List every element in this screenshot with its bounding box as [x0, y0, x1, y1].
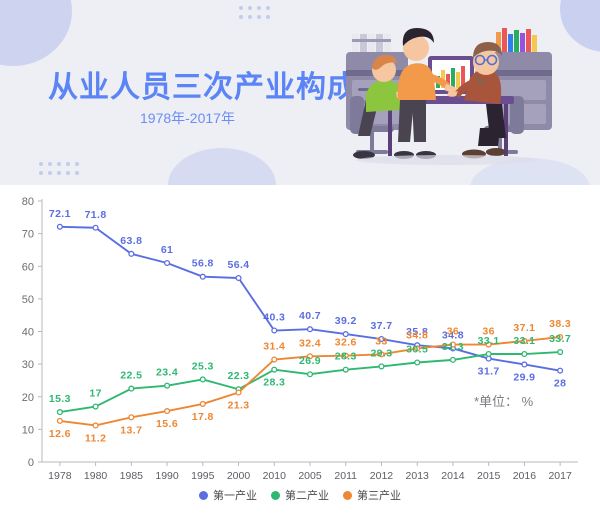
- legend-color-dot: [199, 491, 208, 500]
- x-axis-tick-label: 2014: [441, 470, 465, 482]
- legend-color-dot: [343, 491, 352, 500]
- data-label: 26.9: [299, 355, 321, 367]
- data-point-marker[interactable]: [272, 367, 277, 372]
- data-label: 72.1: [49, 208, 71, 220]
- data-label: 28: [554, 378, 566, 390]
- data-label: 36: [447, 326, 459, 338]
- data-label: 33: [375, 335, 387, 347]
- data-point-marker[interactable]: [308, 372, 313, 377]
- data-label: 28.3: [335, 351, 357, 363]
- data-label: 56.8: [192, 258, 214, 270]
- legend-item[interactable]: 第三产业: [343, 487, 401, 503]
- unit-annotation: *单位： %: [474, 391, 533, 410]
- data-label: 29.3: [370, 347, 392, 359]
- data-point-marker[interactable]: [451, 357, 456, 362]
- x-axis-tick-label: 2017: [548, 470, 572, 482]
- header-banner: 从业人员三次产业构成 1978年-2017年: [0, 0, 600, 185]
- data-point-marker[interactable]: [522, 352, 527, 357]
- data-point-marker[interactable]: [165, 383, 170, 388]
- data-point-marker[interactable]: [165, 261, 170, 266]
- data-point-marker[interactable]: [129, 251, 134, 256]
- data-point-marker[interactable]: [415, 360, 420, 365]
- data-point-marker[interactable]: [57, 224, 62, 229]
- data-label: 11.2: [85, 432, 106, 444]
- x-axis-tick-label: 2011: [334, 470, 357, 482]
- data-label: 36: [482, 326, 494, 338]
- data-label: 12.6: [49, 428, 71, 440]
- data-label: 32.6: [335, 337, 357, 349]
- x-axis-tick-label: 1980: [84, 470, 108, 482]
- data-point-marker[interactable]: [522, 362, 527, 367]
- data-label: 38.3: [549, 318, 571, 330]
- data-point-marker[interactable]: [272, 328, 277, 333]
- x-axis-tick-label: 1995: [191, 470, 215, 482]
- data-label: 40.3: [263, 312, 285, 324]
- data-label: 31.4: [263, 341, 285, 353]
- y-axis-tick-label: 50: [22, 294, 34, 306]
- chart-container: 搜狐新闻 01020304050607080 19781980198519901…: [0, 185, 600, 522]
- y-axis-tick-label: 40: [22, 327, 34, 339]
- data-label: 34.8: [406, 329, 428, 341]
- data-label: 15.3: [49, 393, 71, 405]
- decorative-blob-top-left: [0, 0, 72, 66]
- data-label: 15.6: [156, 418, 178, 430]
- data-label: 40.7: [299, 310, 321, 322]
- data-label: 17: [89, 388, 101, 400]
- legend-label: 第二产业: [285, 487, 329, 503]
- decorative-dot-grid-top: [239, 6, 270, 19]
- data-point-marker[interactable]: [93, 225, 98, 230]
- data-point-marker[interactable]: [57, 410, 62, 415]
- infographic-page: 从业人员三次产业构成 1978年-2017年: [0, 0, 600, 522]
- decorative-blob-bottom-center: [168, 148, 276, 185]
- legend-item[interactable]: 第二产业: [271, 487, 329, 503]
- data-point-marker[interactable]: [558, 368, 563, 373]
- data-label: 71.8: [85, 209, 107, 221]
- data-label: 37.7: [370, 320, 392, 332]
- data-label: 23.4: [156, 367, 178, 379]
- chart-legend: 第一产业第二产业第三产业: [0, 487, 600, 503]
- data-point-marker[interactable]: [558, 350, 563, 355]
- data-point-marker[interactable]: [308, 327, 313, 332]
- data-label: 56.4: [228, 259, 250, 271]
- data-point-marker[interactable]: [165, 409, 170, 414]
- legend-item[interactable]: 第一产业: [199, 487, 257, 503]
- data-label: 28.3: [263, 377, 285, 389]
- data-point-marker[interactable]: [486, 352, 491, 357]
- y-axis-tick-label: 20: [22, 392, 34, 404]
- y-axis-tick-label: 70: [22, 229, 34, 241]
- x-axis: 1978198019851990199520002010200520112012…: [42, 462, 578, 482]
- line-chart-plot: 01020304050607080 1978198019851990199520…: [0, 185, 600, 522]
- y-axis-tick-label: 0: [28, 457, 34, 469]
- x-axis-tick-label: 2000: [227, 470, 251, 482]
- y-axis-tick-label: 10: [22, 424, 34, 436]
- data-point-marker[interactable]: [200, 274, 205, 279]
- data-label: 13.7: [120, 424, 142, 436]
- data-label: 29.9: [513, 371, 535, 383]
- data-label: 39.2: [335, 315, 357, 327]
- office-team-illustration: [322, 8, 572, 173]
- data-point-marker[interactable]: [93, 423, 98, 428]
- data-point-marker[interactable]: [129, 386, 134, 391]
- page-title: 从业人员三次产业构成: [48, 62, 358, 106]
- data-point-marker[interactable]: [57, 418, 62, 423]
- x-axis-tick-label: 2012: [370, 470, 394, 482]
- x-axis-tick-label: 1978: [48, 470, 72, 482]
- data-point-marker[interactable]: [272, 357, 277, 362]
- data-point-marker[interactable]: [129, 415, 134, 420]
- data-label: 22.3: [228, 370, 250, 382]
- legend-label: 第一产业: [213, 487, 257, 503]
- data-label: 32.4: [299, 337, 321, 349]
- decorative-dot-grid-bottom: [39, 162, 79, 175]
- data-label: 33.1: [513, 335, 535, 347]
- data-label: 33.7: [549, 333, 571, 345]
- x-axis-tick-label: 2016: [513, 470, 537, 482]
- data-point-marker[interactable]: [343, 367, 348, 372]
- data-point-marker[interactable]: [236, 276, 241, 281]
- x-axis-tick-label: 1990: [155, 470, 179, 482]
- data-point-marker[interactable]: [379, 364, 384, 369]
- legend-label: 第三产业: [357, 487, 401, 503]
- data-label: 30.5: [406, 343, 428, 355]
- y-axis: 01020304050607080: [22, 196, 42, 469]
- data-label: 61: [161, 244, 173, 256]
- data-point-marker[interactable]: [236, 390, 241, 395]
- data-label: 22.5: [120, 370, 142, 382]
- y-axis-tick-label: 60: [22, 261, 34, 273]
- data-label: 37.1: [513, 322, 535, 334]
- data-label: 63.8: [120, 235, 142, 247]
- x-axis-tick-label: 2005: [298, 470, 322, 482]
- data-label: 31.3: [442, 341, 464, 353]
- page-subtitle: 1978年-2017年: [140, 108, 235, 128]
- x-axis-tick-label: 2015: [477, 470, 501, 482]
- data-label: 21.3: [228, 400, 250, 412]
- x-axis-tick-label: 1985: [120, 470, 144, 482]
- data-point-marker[interactable]: [200, 402, 205, 407]
- data-label: 31.7: [478, 366, 500, 378]
- data-point-marker[interactable]: [200, 377, 205, 382]
- data-label: 17.8: [192, 411, 214, 423]
- y-axis-tick-label: 80: [22, 196, 34, 208]
- data-label: 25.3: [192, 360, 214, 372]
- legend-color-dot: [271, 491, 280, 500]
- x-axis-tick-label: 2010: [263, 470, 287, 482]
- data-point-marker[interactable]: [93, 404, 98, 409]
- y-axis-tick-label: 30: [22, 359, 34, 371]
- x-axis-tick-label: 2013: [406, 470, 430, 482]
